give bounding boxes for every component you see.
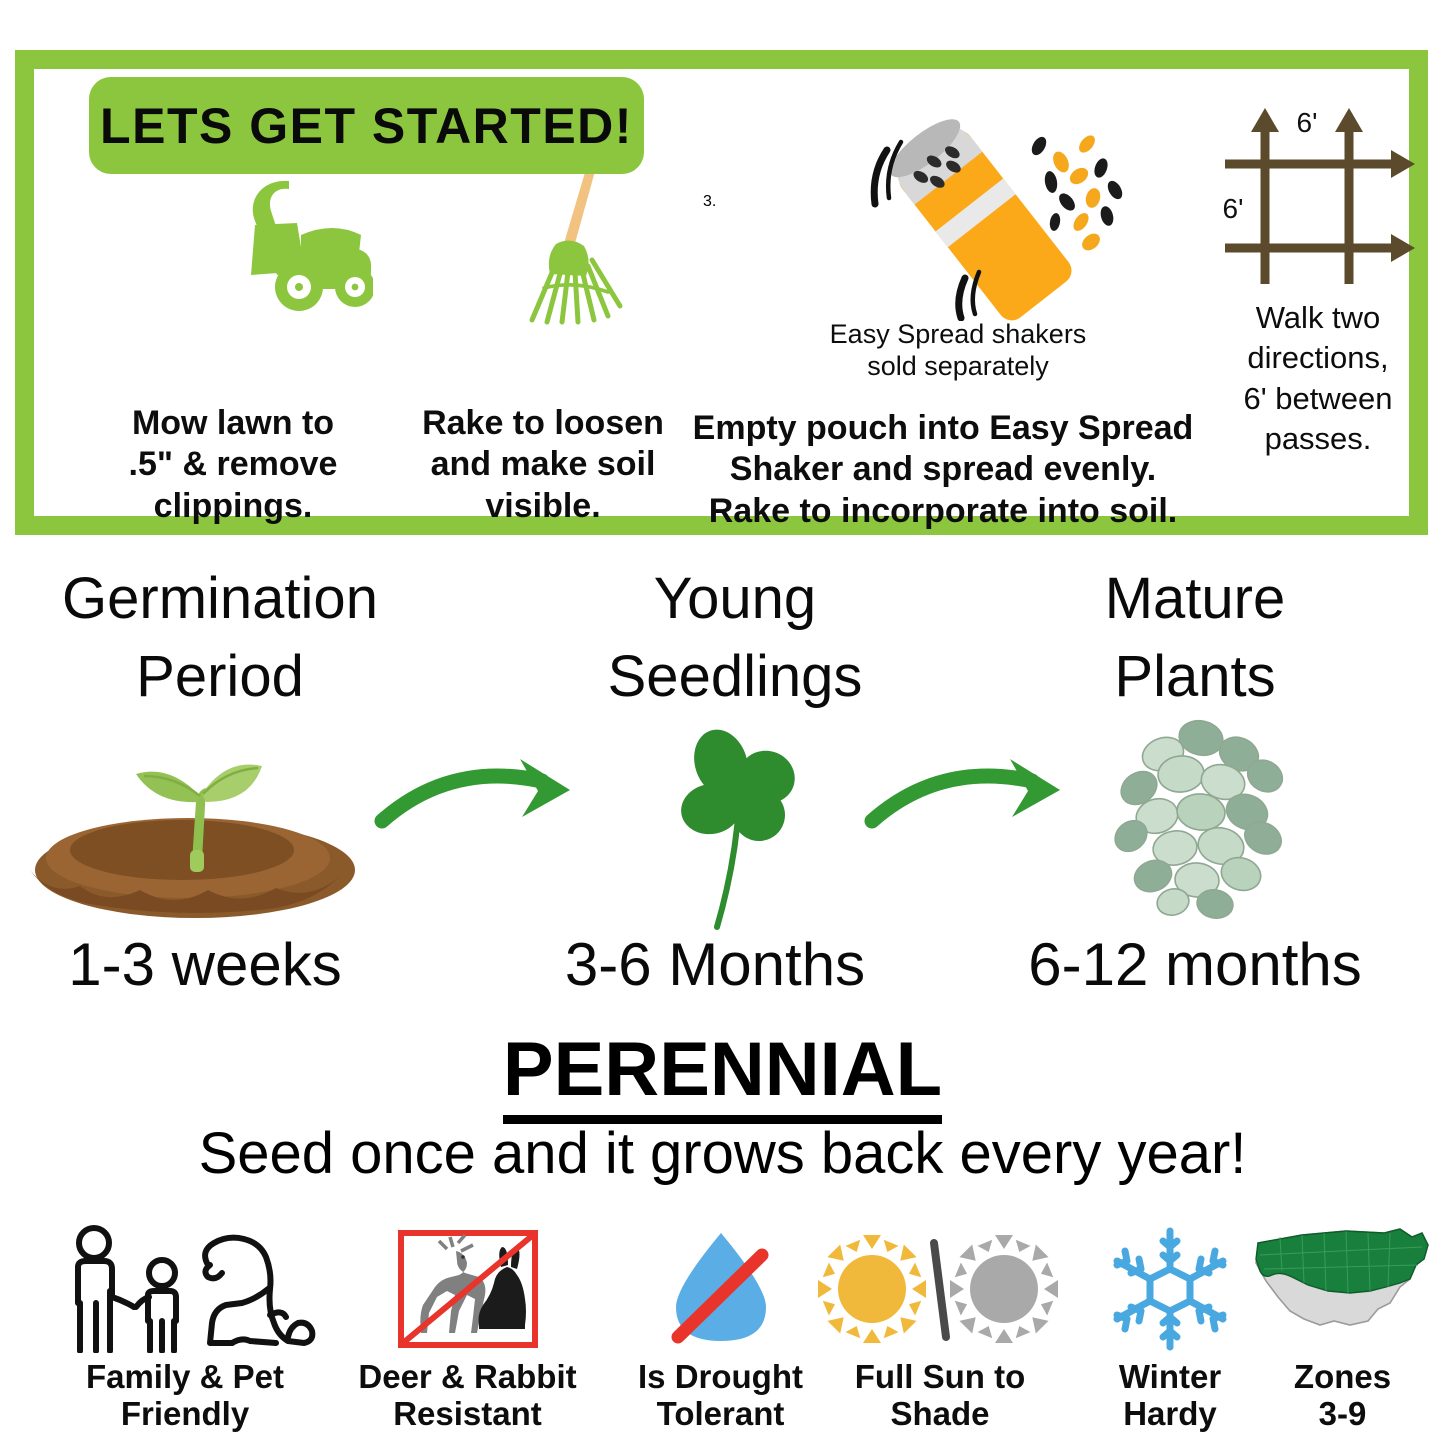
family-and-dog-icon	[40, 1225, 330, 1353]
feature-full-sun-to-shade: Full Sun to Shade	[800, 1225, 1080, 1433]
stage-2-title: Young Seedlings	[530, 560, 940, 717]
walk-pattern-block: 6' 6' Walk two directions, 6' between pa…	[1193, 88, 1445, 497]
walk-pattern-caption: Walk two directions, 6' between passes.	[1193, 298, 1443, 459]
perennial-subheading: Seed once and it grows back every year!	[0, 1125, 1445, 1183]
curved-arrow-right-icon	[370, 745, 620, 840]
clover-patch-icon	[1105, 712, 1305, 927]
clover-seedling-icon	[655, 715, 825, 940]
usa-map-zones-icon	[1250, 1225, 1435, 1353]
get-started-panel: 1. Mow lawn to .5" & remove clipp	[15, 50, 1428, 535]
snowflake-icon	[1075, 1225, 1265, 1353]
feature-winter-hardy-label: Winter Hardy	[1075, 1359, 1265, 1433]
lawn-mower-icon	[193, 163, 373, 318]
stage-1-duration: 1-3 weeks	[10, 935, 400, 995]
svg-text:6': 6'	[1223, 193, 1244, 224]
feature-zones-label: Zones 3-9	[1250, 1359, 1435, 1433]
deer-rabbit-prohibited-icon	[335, 1225, 600, 1353]
perennial-heading: PERENNIAL	[0, 1032, 1445, 1108]
infographic-page: 1. Mow lawn to .5" & remove clipp	[0, 0, 1445, 1445]
step-3-caption: Empty pouch into Easy Spread Shaker and …	[683, 408, 1203, 532]
banner-title: LETS GET STARTED!	[100, 101, 633, 151]
sprout-in-soil-icon	[10, 710, 370, 935]
feature-family-pet-friendly-label: Family & Pet Friendly	[40, 1359, 330, 1433]
step-3: 3.	[693, 88, 1198, 497]
feature-deer-rabbit-resistant-label: Deer & Rabbit Resistant	[335, 1359, 600, 1433]
feature-family-pet-friendly: Family & Pet Friendly	[40, 1225, 330, 1433]
step-1-caption: Mow lawn to .5" & remove clippings.	[73, 403, 393, 527]
feature-zones: Zones 3-9	[1250, 1225, 1435, 1433]
stage-3-duration: 6-12 months	[990, 935, 1400, 995]
svg-text:6': 6'	[1297, 107, 1318, 138]
feature-deer-rabbit-resistant: Deer & Rabbit Resistant	[335, 1225, 600, 1433]
stage-2-duration: 3-6 Months	[520, 935, 910, 995]
step-3-note: Easy Spread shakers sold separately	[748, 318, 1168, 383]
sun-and-shade-icon	[800, 1225, 1080, 1353]
feature-winter-hardy: Winter Hardy	[1075, 1225, 1265, 1433]
step-2-caption: Rake to loosen and make soil visible.	[388, 403, 698, 527]
feature-badges-row: Family & Pet Friendly	[0, 1225, 1445, 1445]
step-3-number: 3.	[703, 193, 716, 211]
seed-shaker-icon	[843, 106, 1143, 326]
curved-arrow-right-icon-2	[860, 745, 1110, 840]
stage-1-title: Germination Period	[20, 560, 420, 717]
stage-3-title: Mature Plants	[1000, 560, 1390, 717]
lets-get-started-banner: LETS GET STARTED!	[89, 77, 644, 174]
feature-full-sun-to-shade-label: Full Sun to Shade	[800, 1359, 1080, 1433]
walk-pattern-grid-icon: 6' 6'	[1203, 98, 1445, 303]
